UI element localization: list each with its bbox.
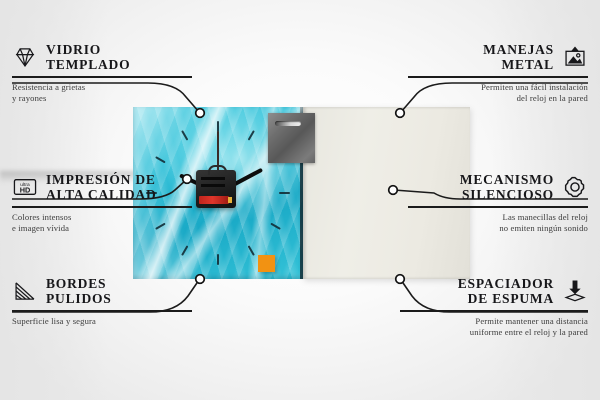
feature-divider: [408, 76, 588, 78]
clock-tick: [248, 130, 255, 141]
feature-header: MANEJAS METAL: [408, 42, 588, 72]
feature-divider: [12, 310, 192, 312]
diamond-icon: [12, 44, 38, 70]
feature-header: BORDES PULIDOS: [12, 276, 192, 306]
svg-text:HD: HD: [20, 186, 31, 195]
feature-title: IMPRESIÓN DE ALTA CALIDAD: [46, 172, 157, 202]
wall-frame-icon: [562, 44, 588, 70]
feature-manejas-metal: MANEJAS METAL Permiten una fácil instala…: [408, 42, 588, 104]
ultra-hd-icon: ultra HD: [12, 174, 38, 200]
clock-tick: [270, 223, 281, 230]
polished-edge-icon: [12, 278, 38, 304]
feature-description: Colores intensos e imagen vívida: [12, 212, 192, 234]
clock-tick: [181, 130, 188, 141]
hanger-slot: [275, 121, 301, 126]
feature-header: MECANISMO SILENCIOSO: [408, 172, 588, 202]
feature-vidrio-templado: VIDRIO TEMPLADO Resistencia a grietas y …: [12, 42, 192, 104]
clock-tick: [181, 245, 188, 256]
movement-vent: [201, 177, 225, 180]
feature-header: VIDRIO TEMPLADO: [12, 42, 192, 72]
clock-tick: [217, 254, 219, 265]
feature-header: ESPACIADOR DE ESPUMA: [400, 276, 588, 306]
aa-battery: [199, 196, 229, 204]
clock-tick: [248, 245, 255, 256]
feature-description: Permite mantener una distancia uniforme …: [400, 316, 588, 338]
movement-vent: [201, 184, 225, 187]
feature-bordes-pulidos: BORDES PULIDOS Superficie lisa y segura: [12, 276, 192, 327]
orange-foam-spacer: [258, 255, 275, 272]
feature-title: ESPACIADOR DE ESPUMA: [400, 276, 554, 306]
feature-description: Superficie lisa y segura: [12, 316, 192, 327]
foam-spacer-icon: [562, 278, 588, 304]
quartz-movement-box: [196, 170, 236, 208]
feature-header: ultra HD IMPRESIÓN DE ALTA CALIDAD: [12, 172, 192, 202]
feature-title: MECANISMO SILENCIOSO: [408, 172, 554, 202]
feature-description: Permiten una fácil instalación del reloj…: [408, 82, 588, 104]
feature-espaciador-espuma: ESPACIADOR DE ESPUMA Permite mantener un…: [400, 276, 588, 338]
feature-divider: [408, 206, 588, 208]
feature-divider: [12, 206, 192, 208]
clock-tick: [155, 156, 166, 163]
feature-description: Resistencia a grietas y rayones: [12, 82, 192, 104]
clock-tick: [279, 192, 290, 194]
feature-title: BORDES PULIDOS: [46, 276, 112, 306]
feature-description: Las manecillas del reloj no emiten ningú…: [408, 212, 588, 234]
metal-hanger-plate: [268, 113, 315, 163]
feature-divider: [400, 310, 588, 312]
feature-impresion-alta-calidad: ultra HD IMPRESIÓN DE ALTA CALIDAD Color…: [12, 172, 192, 234]
feature-mecanismo-silencioso: MECANISMO SILENCIOSO Las manecillas del …: [408, 172, 588, 234]
gear-icon: [562, 174, 588, 200]
feature-title: VIDRIO TEMPLADO: [46, 42, 130, 72]
infographic-canvas: VIDRIO TEMPLADO Resistencia a grietas y …: [0, 0, 600, 400]
hanger-loop: [208, 165, 227, 175]
feature-divider: [12, 76, 192, 78]
feature-title: MANEJAS METAL: [408, 42, 554, 72]
